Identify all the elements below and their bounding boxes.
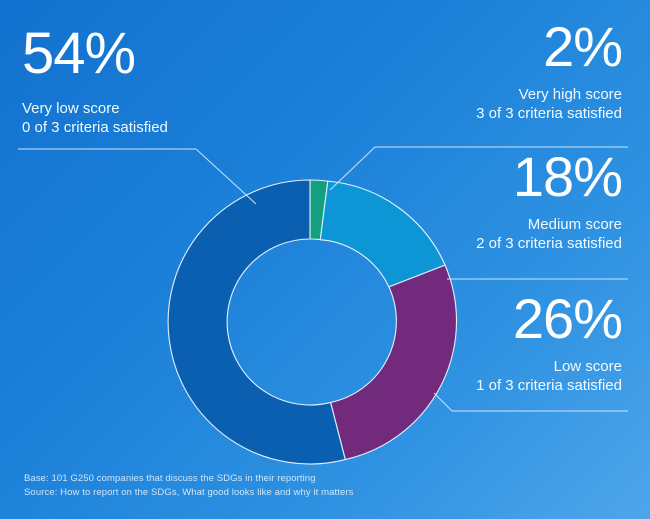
- leader-line-very-low: [18, 149, 256, 204]
- title-very-high-score: Very high score: [476, 85, 622, 104]
- leader-line-low: [434, 393, 628, 411]
- title-very-low-score: Very low score: [22, 99, 168, 118]
- subtitle-medium-score: 2 of 3 criteria satisfied: [476, 234, 622, 253]
- subtitle-very-high-score: 3 of 3 criteria satisfied: [476, 104, 622, 123]
- donut-segments: [168, 180, 456, 464]
- infographic-canvas: 54% Very low score 0 of 3 criteria satis…: [0, 0, 650, 519]
- footer-source: Source: How to report on the SDGs, What …: [24, 486, 354, 501]
- percent-very-low-score: 54%: [22, 26, 168, 81]
- subtitle-very-low-score: 0 of 3 criteria satisfied: [22, 118, 168, 137]
- callout-very-high-score: 2% Very high score 3 of 3 criteria satis…: [476, 20, 622, 124]
- footer-notes: Base: 101 G250 companies that discuss th…: [24, 472, 354, 501]
- donut-segment-medium[interactable]: [320, 181, 445, 287]
- callout-low-score: 26% Low score 1 of 3 criteria satisfied: [476, 292, 622, 396]
- percent-very-high-score: 2%: [476, 20, 622, 73]
- title-medium-score: Medium score: [476, 215, 622, 234]
- footer-base: Base: 101 G250 companies that discuss th…: [24, 472, 354, 487]
- percent-low-score: 26%: [476, 292, 622, 345]
- percent-medium-score: 18%: [476, 150, 622, 203]
- callout-very-low-score: 54% Very low score 0 of 3 criteria satis…: [22, 26, 168, 137]
- donut-segment-low[interactable]: [331, 265, 457, 459]
- title-low-score: Low score: [476, 357, 622, 376]
- callout-medium-score: 18% Medium score 2 of 3 criteria satisfi…: [476, 150, 622, 254]
- subtitle-low-score: 1 of 3 criteria satisfied: [476, 376, 622, 395]
